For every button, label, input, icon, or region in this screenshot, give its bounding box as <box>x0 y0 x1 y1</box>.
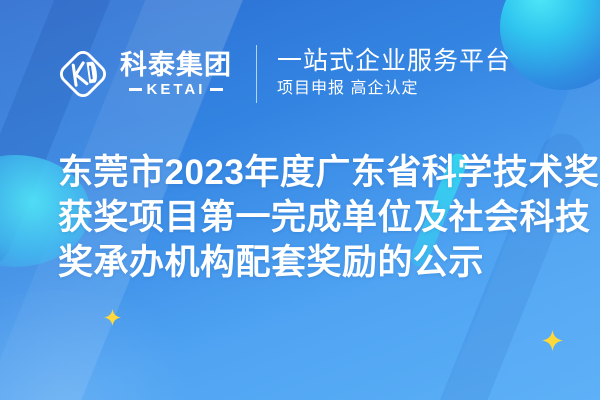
bottom-left-glow <box>0 290 210 400</box>
logo-wordmark: 科泰集团 KETAI <box>120 51 232 97</box>
title-line-2: 获奖项目第一完成单位及社会科技 <box>58 195 568 240</box>
logo-name-en: KETAI <box>147 82 206 97</box>
publicity-banner: 科泰集团 KETAI 一站式企业服务平台 项目申报 高企认定 东莞市2023年度… <box>0 0 600 400</box>
sparkle-icon-right <box>542 330 563 351</box>
dash-left-icon <box>129 88 142 91</box>
sparkle-icon-left <box>104 309 121 326</box>
banner-header: 科泰集团 KETAI 一站式企业服务平台 项目申报 高企认定 <box>56 42 511 106</box>
cyan-sphere-decoration <box>500 0 600 90</box>
logo-name-cn: 科泰集团 <box>120 51 232 79</box>
tagline-sub: 项目申报 高企认定 <box>277 77 511 101</box>
dash-right-icon <box>210 88 223 91</box>
title-line-3: 奖承办机构配套奖励的公示 <box>58 240 568 285</box>
tagline-block: 一站式企业服务平台 项目申报 高企认定 <box>277 47 511 101</box>
tagline-main: 一站式企业服务平台 <box>277 47 511 77</box>
logo-name-en-row: KETAI <box>129 82 224 97</box>
page-title: 东莞市2023年度广东省科学技术奖 获奖项目第一完成单位及社会科技 奖承办机构配… <box>58 150 568 285</box>
vertical-divider <box>256 45 257 103</box>
title-line-1: 东莞市2023年度广东省科学技术奖 <box>58 150 568 195</box>
ketai-diamond-monogram-icon <box>56 47 110 101</box>
